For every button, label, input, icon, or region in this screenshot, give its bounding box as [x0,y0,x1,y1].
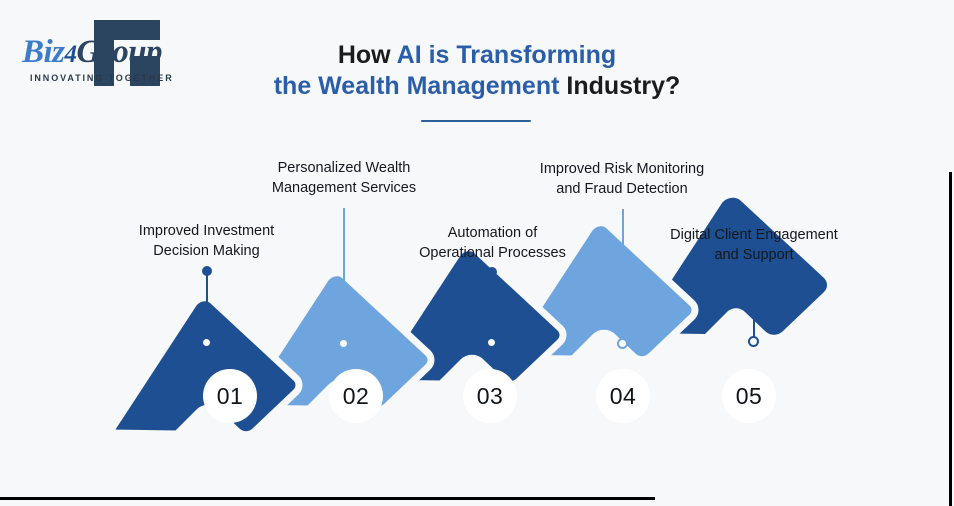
step-number-3: 03 [463,369,517,423]
step-label-4-line2: and Fraud Detection [518,179,726,199]
connector-end-ring-1 [201,337,212,348]
step-label-3: Automation of Operational Processes [400,223,585,263]
connector-top-dot-3 [487,267,497,277]
connector-top-dot-2 [339,203,349,213]
connector-step-4 [617,209,628,343]
step-number-1: 01 [203,369,257,423]
connector-end-ring-4 [617,338,628,349]
infographic-canvas: Biz4Group INNOVATING TOGETHER How AI is … [0,0,954,506]
connector-top-dot-5 [749,268,759,278]
connector-top-dot-1 [202,266,212,276]
step-label-2-line2: Management Services [253,178,435,198]
connector-end-ring-5 [748,336,759,347]
connector-line-5 [753,273,755,341]
step-label-1: Improved Investment Decision Making [119,221,294,261]
connector-end-ring-3 [486,337,497,348]
connector-line-3 [491,272,493,342]
step-label-2-line1: Personalized Wealth [253,158,435,178]
step-label-1-line2: Decision Making [119,241,294,261]
connector-step-3 [486,272,497,342]
logo-tagline: INNOVATING TOGETHER [30,73,174,83]
step-label-5: Digital Client Engagement and Support [650,225,858,265]
logo-word-digit: 4 [65,41,77,68]
right-edge-rule [949,172,952,506]
connector-step-1 [201,271,212,342]
step-label-5-line2: and Support [650,245,858,265]
step-label-1-line1: Improved Investment [119,221,294,241]
logo-word-group: Group [77,34,163,70]
logo-wordmark: Biz4Group [22,34,162,71]
step-number-5: 05 [722,369,776,423]
connector-line-1 [206,271,208,342]
connector-top-dot-4 [618,204,628,214]
connector-end-ring-2 [338,338,349,349]
step-label-4: Improved Risk Monitoring and Fraud Detec… [518,159,726,199]
connector-line-4 [622,209,624,343]
step-number-4: 04 [596,369,650,423]
logo-word-biz: Biz [22,34,65,70]
step-label-2: Personalized Wealth Management Services [253,158,435,198]
connector-step-2 [338,208,349,343]
bottom-edge-rule [0,497,655,500]
step-label-3-line2: Operational Processes [400,243,585,263]
connector-step-5 [748,273,759,341]
step-label-5-line1: Digital Client Engagement [650,225,858,245]
connector-line-2 [343,208,345,343]
step-label-3-line1: Automation of [400,223,585,243]
step-label-4-line1: Improved Risk Monitoring [518,159,726,179]
step-number-2: 02 [329,369,383,423]
